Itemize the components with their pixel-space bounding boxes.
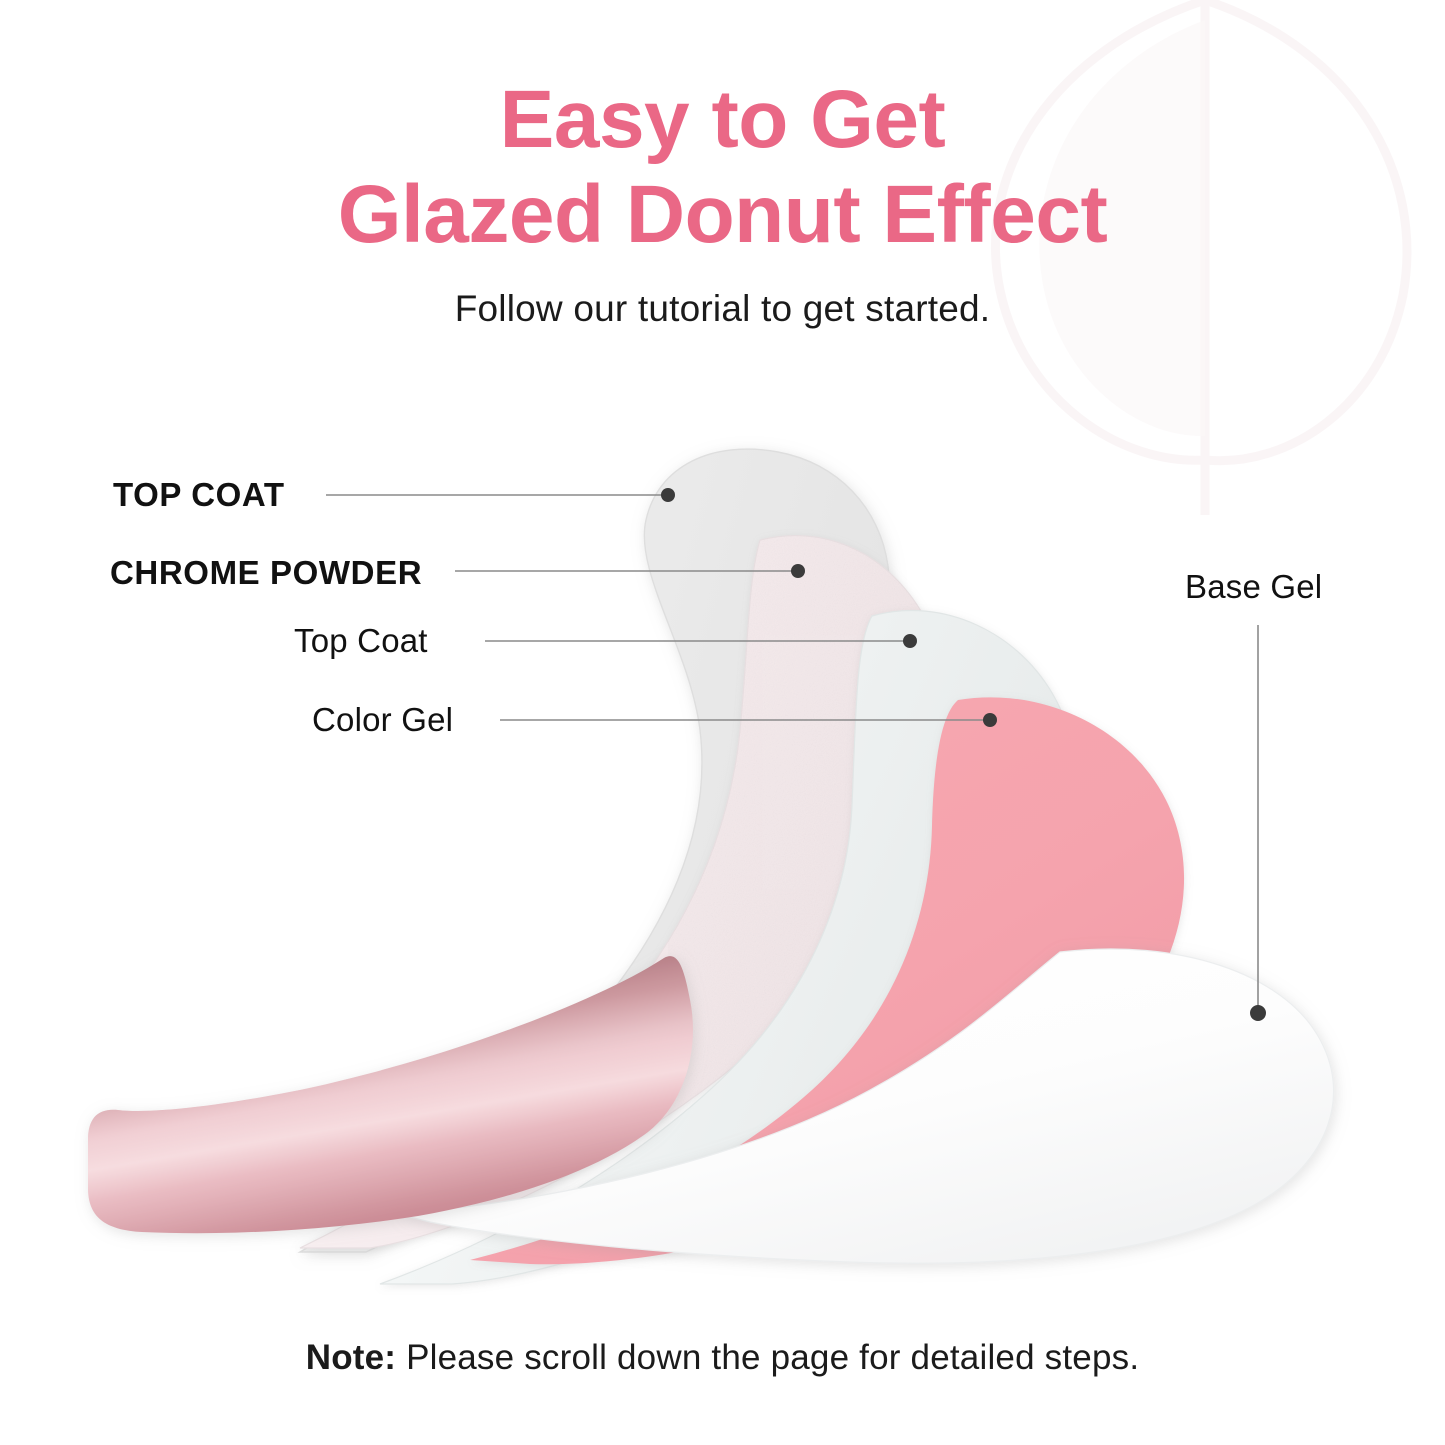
footer-note-text: Please scroll down the page for detailed… [396,1338,1139,1377]
leader-dot-color-gel [983,713,997,727]
label-chrome-powder: CHROME POWDER [110,556,422,589]
nail-layer-illustration [0,0,1445,1445]
label-color-gel: Color Gel [312,703,453,736]
label-top-coat-final: TOP COAT [113,478,285,511]
footer-note: Note: Please scroll down the page for de… [0,1338,1445,1378]
leader-dot-top-coat [903,634,917,648]
leader-dot-chrome-powder [791,564,805,578]
leader-dot-base-gel [1250,1005,1266,1021]
label-base-gel: Base Gel [1185,570,1322,603]
label-top-coat: Top Coat [294,624,428,657]
poster-canvas: Easy to Get Glazed Donut Effect Follow o… [0,0,1445,1445]
footer-note-prefix: Note: [306,1338,396,1377]
leader-dot-top-coat-final [661,488,675,502]
